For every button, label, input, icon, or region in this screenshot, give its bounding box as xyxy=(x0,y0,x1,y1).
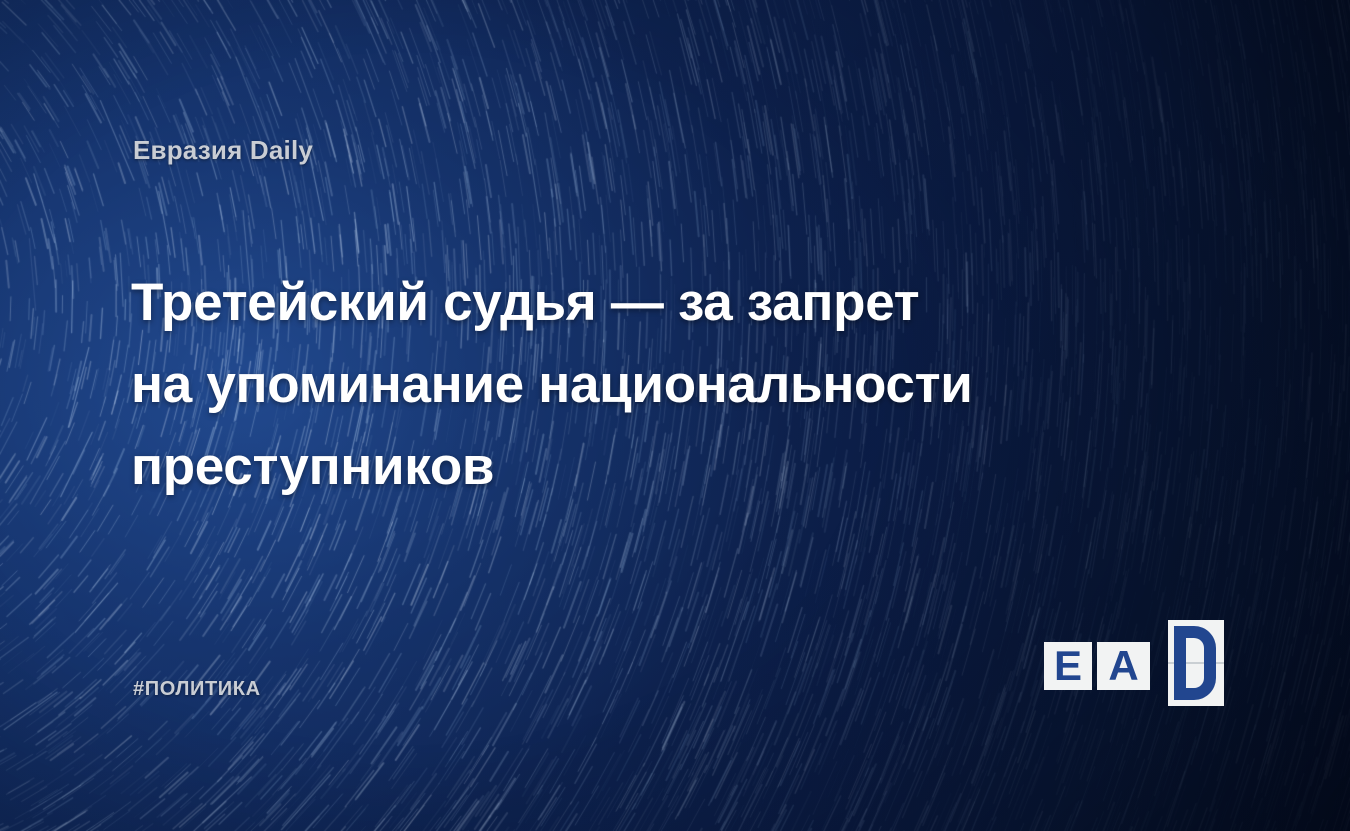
site-name: Евразия Daily xyxy=(133,135,313,166)
ead-logo: E A xyxy=(1044,620,1224,706)
logo-letter-e: E xyxy=(1044,642,1092,690)
logo-letter-a: A xyxy=(1097,642,1150,690)
headline-line-3: преступников xyxy=(131,426,1031,508)
category-tag[interactable]: #ПОЛИТИКА xyxy=(133,678,261,701)
news-card: Евразия Daily Третейский судья — за запр… xyxy=(0,0,1350,831)
logo-letter-d-icon xyxy=(1168,620,1224,706)
headline-line-1: Третейский судья — за запрет xyxy=(131,262,1031,344)
headline: Третейский судья — за запрет на упоминан… xyxy=(131,262,1031,508)
headline-line-2: на упоминание национальности xyxy=(131,344,1031,426)
card-content: Евразия Daily Третейский судья — за запр… xyxy=(0,0,1350,831)
